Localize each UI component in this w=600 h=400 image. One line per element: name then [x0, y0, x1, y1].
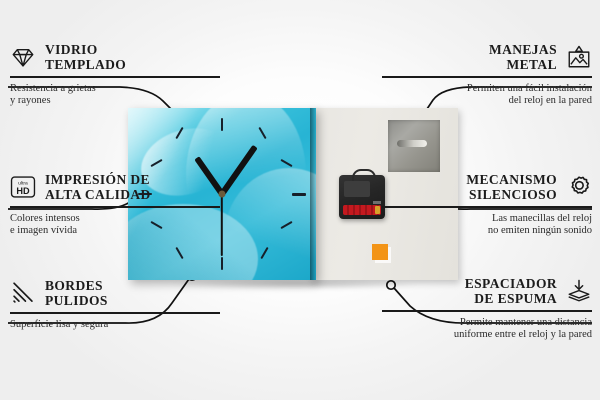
diamond-icon	[10, 44, 36, 70]
title-line-1: MANEJAS	[489, 42, 557, 57]
desc-line-2: e imagen vívida	[10, 225, 220, 238]
feature-description: Permiten una fácil instalación del reloj…	[382, 83, 592, 108]
movement-detail	[344, 181, 370, 197]
desc-line-1: Superficie lisa y segura	[10, 319, 220, 332]
desc-line-1: Permiten una fácil instalación	[382, 83, 592, 96]
feature-description: Resistencia a grietas y rayones	[10, 83, 220, 108]
desc-line-2: no emiten ningún sonido	[382, 225, 592, 238]
feature-header: BORDES PULIDOS	[10, 278, 220, 308]
feature-description: Superficie lisa y segura	[10, 319, 220, 332]
feature-impresion-alta-calidad: ultra HD IMPRESIÓN DE ALTA CALIDAD Color…	[10, 172, 220, 238]
movement-marking	[373, 201, 381, 204]
feature-title: MECANISMO SILENCIOSO	[466, 172, 557, 202]
title-line-2: TEMPLADO	[45, 57, 126, 72]
infographic-canvas: VIDRIO TEMPLADO Resistencia a grietas y …	[0, 0, 600, 400]
hanger-slot	[397, 140, 427, 147]
title-line-1: MECANISMO	[466, 172, 557, 187]
foam-spacer	[372, 244, 388, 260]
feature-header: ESPACIADOR DE ESPUMA	[382, 276, 592, 306]
title-line-1: BORDES	[45, 278, 108, 293]
feature-header: ultra HD IMPRESIÓN DE ALTA CALIDAD	[10, 172, 220, 202]
foam-spacer-icon	[566, 278, 592, 304]
feature-mecanismo-silencioso: MECANISMO SILENCIOSO Las manecillas del …	[382, 172, 592, 238]
feature-description: Las manecillas del reloj no emiten ningú…	[382, 213, 592, 238]
feature-vidrio-templado: VIDRIO TEMPLADO Resistencia a grietas y …	[10, 42, 220, 108]
desc-line-1: Resistencia a grietas	[10, 83, 220, 96]
feature-title: IMPRESIÓN DE ALTA CALIDAD	[45, 172, 151, 202]
gear-icon	[566, 174, 592, 200]
feature-header: VIDRIO TEMPLADO	[10, 42, 220, 72]
divider	[10, 312, 220, 314]
battery-terminal	[375, 206, 380, 214]
desc-line-2: y rayones	[10, 95, 220, 108]
feature-header: MECANISMO SILENCIOSO	[382, 172, 592, 202]
feature-title: BORDES PULIDOS	[45, 278, 108, 308]
second-hand	[221, 194, 223, 256]
svg-text:HD: HD	[16, 186, 30, 196]
title-line-2: METAL	[489, 57, 557, 72]
title-line-1: IMPRESIÓN DE	[45, 172, 151, 187]
tick-6	[221, 257, 223, 270]
battery	[343, 205, 381, 215]
divider	[10, 206, 220, 208]
tick-3	[292, 193, 306, 196]
title-line-2: DE ESPUMA	[465, 291, 557, 306]
desc-line-2: uniforme entre el reloj y la pared	[382, 329, 592, 342]
feature-title: VIDRIO TEMPLADO	[45, 42, 126, 72]
desc-line-1: Colores intensos	[10, 213, 220, 226]
desc-line-1: Permite mantener una distancia	[382, 317, 592, 330]
feature-description: Permite mantener una distancia uniforme …	[382, 317, 592, 342]
feature-espaciador-de-espuma: ESPACIADOR DE ESPUMA Permite mantener un…	[382, 276, 592, 342]
divider	[382, 206, 592, 208]
feature-manejas-metal: MANEJAS METAL Permiten una fácil instala…	[382, 42, 592, 108]
desc-line-2: del reloj en la pared	[382, 95, 592, 108]
hanger-loop	[352, 169, 376, 181]
title-line-2: SILENCIOSO	[466, 187, 557, 202]
title-line-2: ALTA CALIDAD	[45, 187, 151, 202]
picture-hanger-icon	[566, 44, 592, 70]
divider	[10, 76, 220, 78]
feature-description: Colores intensos e imagen vívida	[10, 213, 220, 238]
tick-12	[221, 118, 223, 131]
feature-header: MANEJAS METAL	[382, 42, 592, 72]
feature-title: ESPACIADOR DE ESPUMA	[465, 276, 557, 306]
title-line-1: VIDRIO	[45, 42, 126, 57]
desc-line-1: Las manecillas del reloj	[382, 213, 592, 226]
ultra-hd-icon: ultra HD	[10, 174, 36, 200]
polished-edges-icon	[10, 280, 36, 306]
divider	[382, 310, 592, 312]
feature-bordes-pulidos: BORDES PULIDOS Superficie lisa y segura	[10, 278, 220, 331]
title-line-1: ESPACIADOR	[465, 276, 557, 291]
glass-edge	[310, 108, 316, 280]
clock-movement	[339, 175, 385, 219]
feature-title: MANEJAS METAL	[489, 42, 557, 72]
metal-hanger-plate	[388, 120, 440, 172]
divider	[382, 76, 592, 78]
title-line-2: PULIDOS	[45, 293, 108, 308]
